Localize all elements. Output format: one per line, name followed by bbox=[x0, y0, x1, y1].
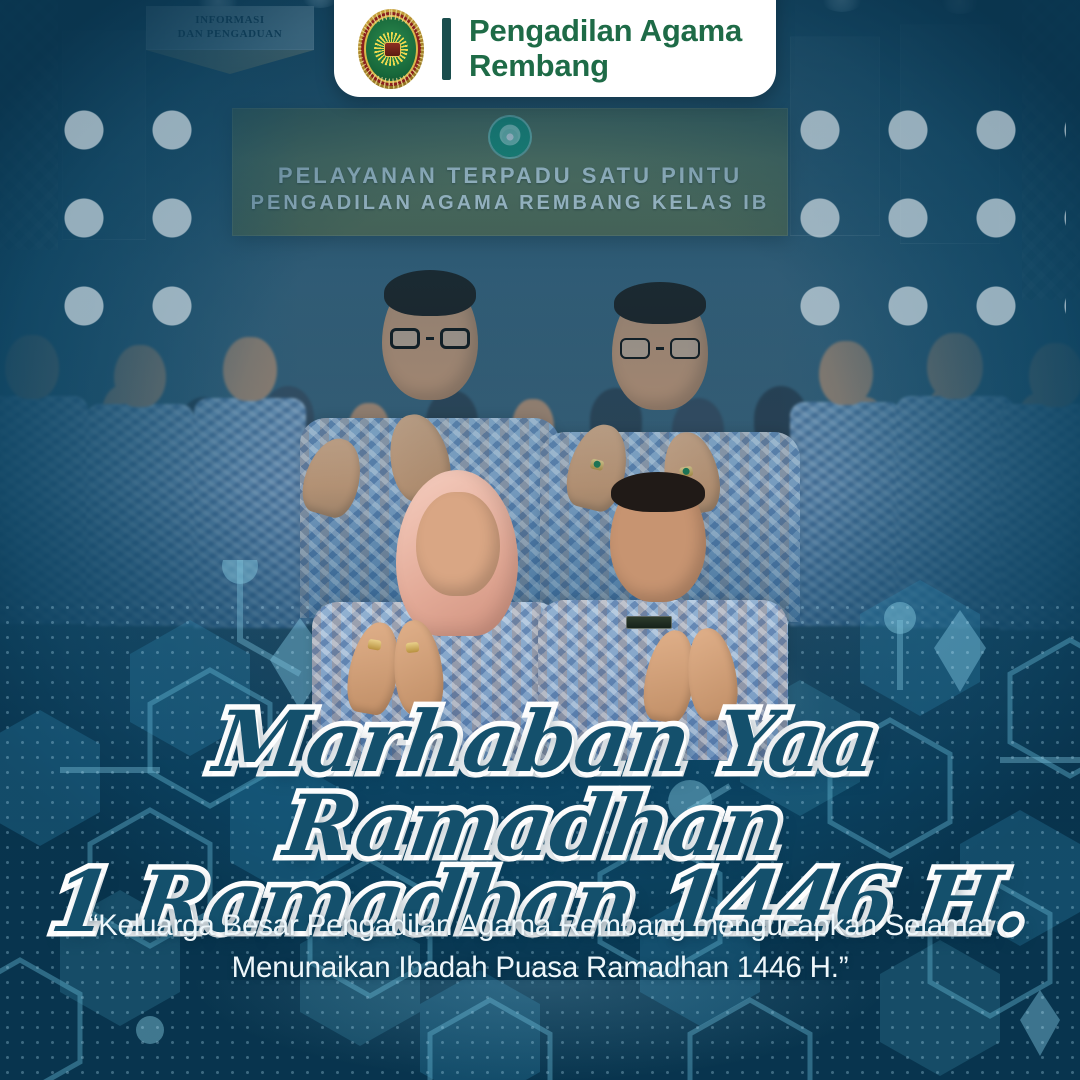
vertical-divider-icon bbox=[442, 18, 451, 80]
headline-line-1: Marhaban Yaa Ramadhan bbox=[0, 700, 1080, 868]
name-tag bbox=[626, 616, 672, 629]
greeting-quote: “Keluarga Besar Pengadilan Agama Rembang… bbox=[60, 905, 1020, 989]
ramadhan-greeting-poster: INFORMASI DAN PENGADUAN PELAYANAN TERPAD… bbox=[0, 0, 1080, 1080]
court-seal-logo-icon bbox=[358, 9, 424, 89]
brand-header-card[interactable]: Pengadilan Agama Rembang bbox=[334, 0, 776, 97]
person-hair bbox=[611, 472, 705, 512]
person-head bbox=[416, 492, 500, 596]
brand-line-2: Rembang bbox=[469, 49, 742, 84]
bottom-glow bbox=[0, 980, 1080, 1080]
gold-ring bbox=[405, 642, 419, 653]
dot-grid-pattern bbox=[776, 86, 1066, 346]
dot-grid-pattern bbox=[40, 86, 240, 346]
person-head bbox=[610, 476, 706, 602]
brand-line-1: Pengadilan Agama bbox=[469, 14, 742, 49]
brand-title: Pengadilan Agama Rembang bbox=[469, 14, 742, 83]
gold-ring bbox=[367, 639, 382, 651]
